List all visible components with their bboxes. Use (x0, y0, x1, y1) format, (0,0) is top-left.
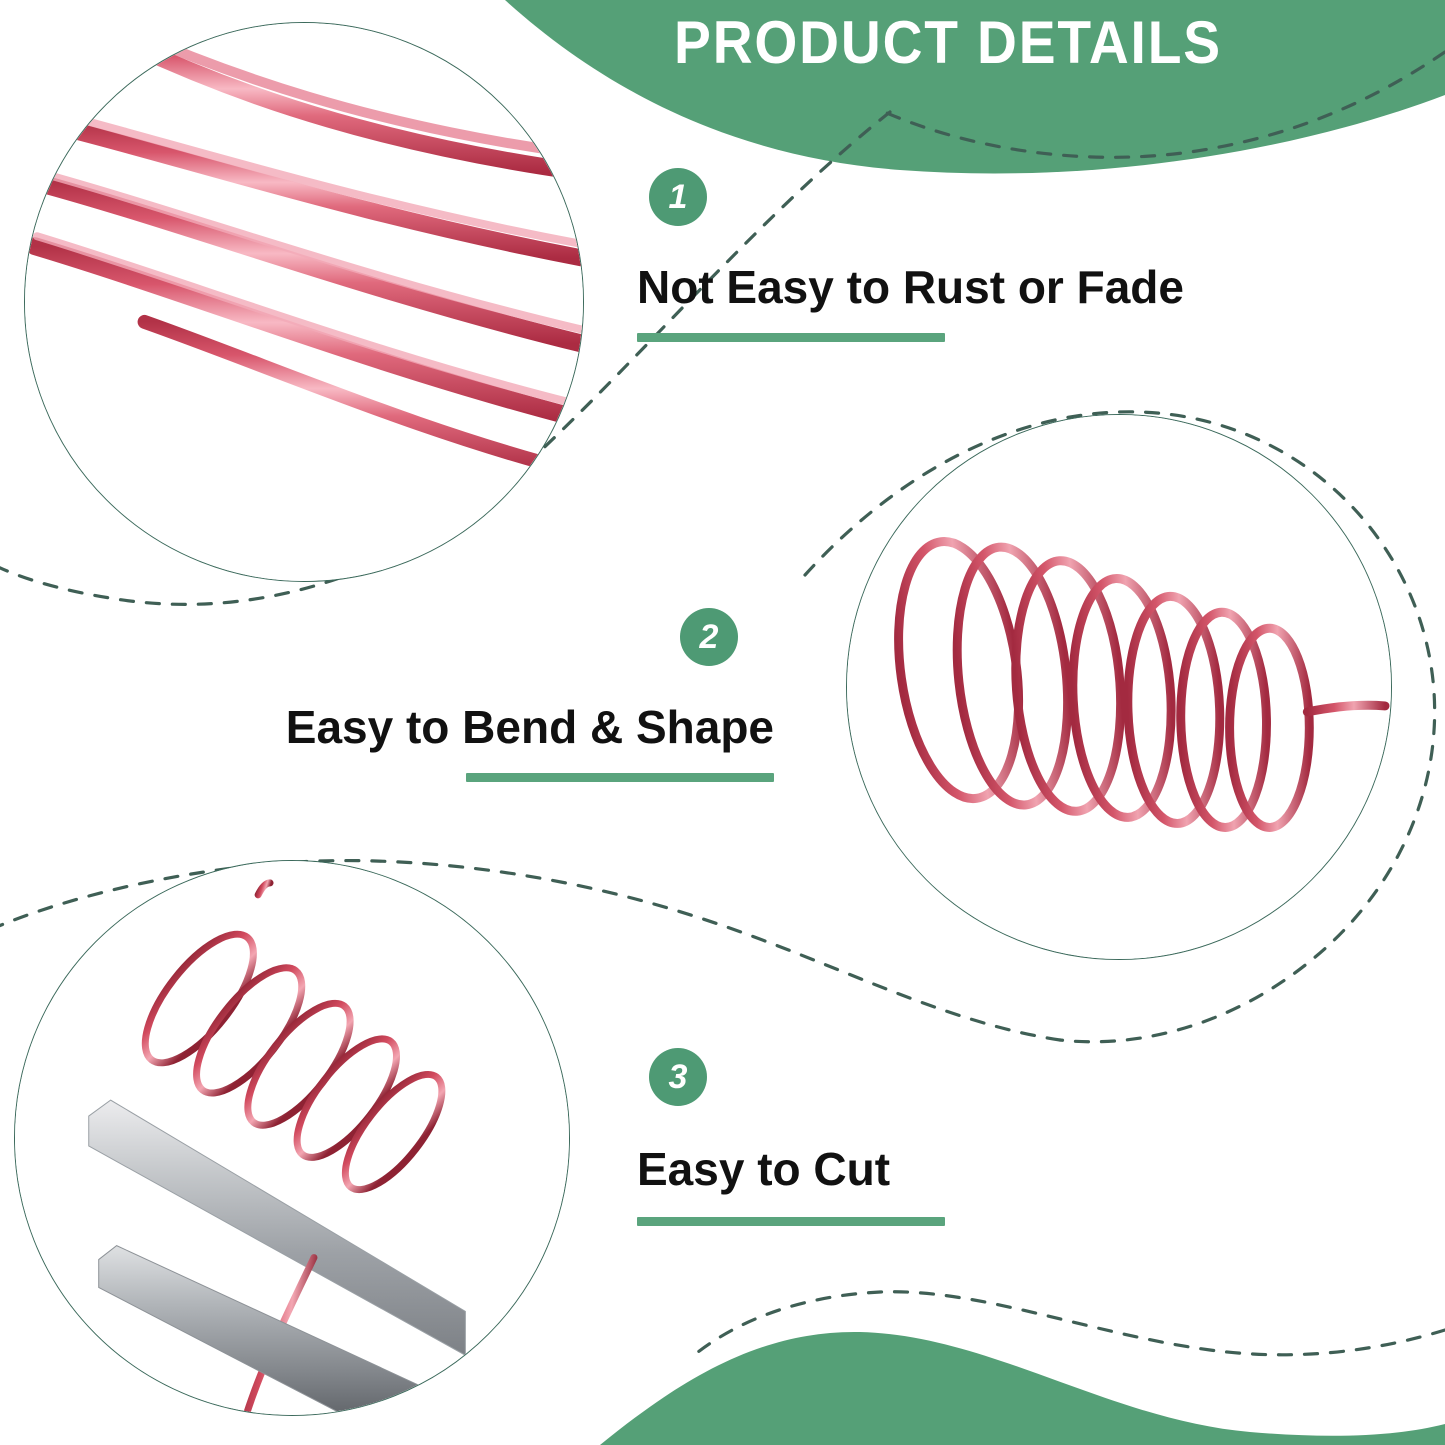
feature-photo-3 (14, 860, 570, 1416)
feature-photo-2 (846, 414, 1392, 960)
feature-title-3: Easy to Cut (637, 1144, 945, 1195)
feature-title-1: Not Easy to Rust or Fade (637, 262, 1184, 313)
feature-number-badge-2: 2 (680, 608, 738, 666)
feature-block-3: 3 Easy to Cut (637, 1048, 945, 1226)
straight-wire-strands-photo (25, 23, 583, 581)
feature-photo-1 (24, 22, 584, 582)
coiled-wire-spiral-photo (847, 415, 1391, 959)
feature-underline-1 (637, 333, 945, 342)
feature-block-1: 1 Not Easy to Rust or Fade (637, 168, 1184, 342)
feature-block-2: 2 Easy to Bend & Shape (286, 608, 774, 782)
feature-title-2: Easy to Bend & Shape (286, 702, 774, 753)
feature-number-badge-1: 1 (649, 168, 707, 226)
footer-green-wave (600, 1332, 1445, 1445)
page-title: PRODUCT DETAILS (654, 8, 1243, 77)
feature-underline-3 (637, 1217, 945, 1226)
feature-underline-2 (466, 773, 774, 782)
feature-number-badge-3: 3 (649, 1048, 707, 1106)
scissors-cutting-wire-photo (15, 861, 569, 1415)
product-details-infographic: PRODUCT DETAILS 1 Not Easy to Rust or Fa… (0, 0, 1445, 1445)
